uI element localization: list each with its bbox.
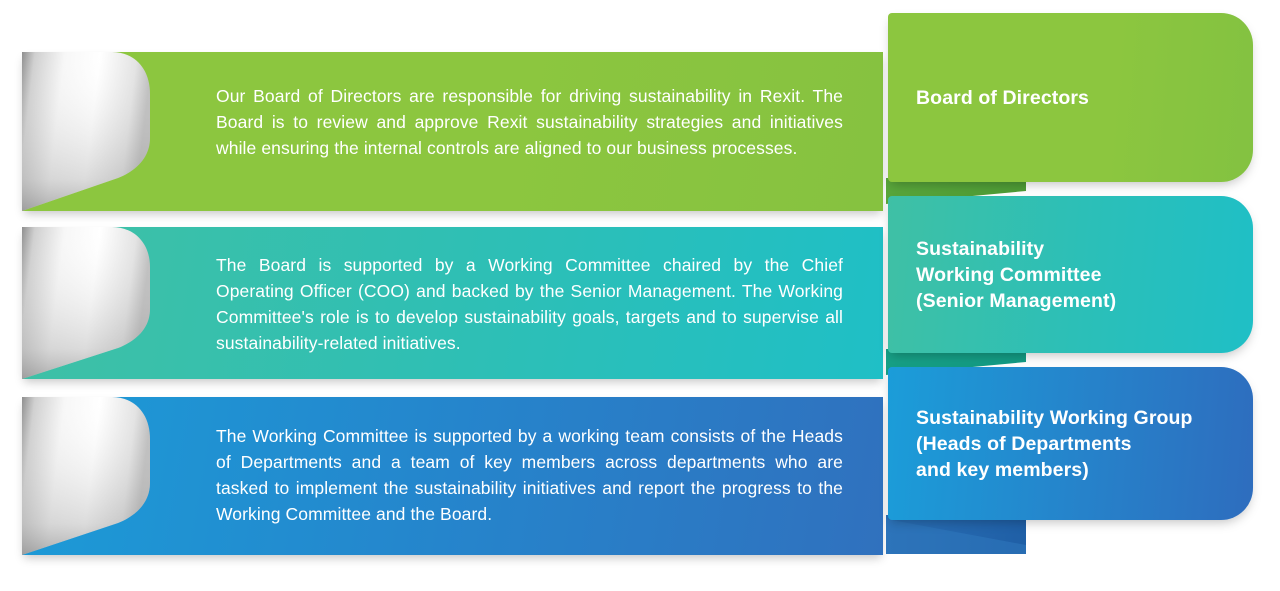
description-band-sustainability-working-committee: The Board is supported by a Working Comm…	[22, 227, 883, 379]
description-band-sustainability-working-group: The Working Committee is supported by a …	[22, 397, 883, 555]
label-line: and key members)	[916, 457, 1193, 483]
label-panel-title: Sustainability Working Committee (Senior…	[888, 236, 1136, 314]
description-text: The Board is supported by a Working Comm…	[216, 252, 843, 356]
label-line: (Heads of Departments	[916, 431, 1193, 457]
label-panel-sustainability-working-committee[interactable]: Sustainability Working Committee (Senior…	[888, 196, 1253, 353]
label-line: (Senior Management)	[916, 288, 1116, 314]
ribbon-fold-blue	[886, 515, 1026, 557]
label-panel-title: Sustainability Working Group (Heads of D…	[888, 405, 1213, 483]
governance-infographic: Our Board of Directors are responsible f…	[0, 0, 1280, 591]
label-panel-title: Board of Directors	[888, 85, 1109, 111]
description-text: Our Board of Directors are responsible f…	[216, 83, 843, 161]
label-line: Sustainability Working Group	[916, 405, 1193, 431]
label-line: Board of Directors	[916, 85, 1089, 111]
description-text: The Working Committee is supported by a …	[216, 423, 843, 527]
label-panel-board-of-directors[interactable]: Board of Directors	[888, 13, 1253, 182]
label-line: Sustainability	[916, 236, 1116, 262]
description-band-board-of-directors: Our Board of Directors are responsible f…	[22, 52, 883, 211]
label-panel-sustainability-working-group[interactable]: Sustainability Working Group (Heads of D…	[888, 367, 1253, 520]
label-line: Working Committee	[916, 262, 1116, 288]
